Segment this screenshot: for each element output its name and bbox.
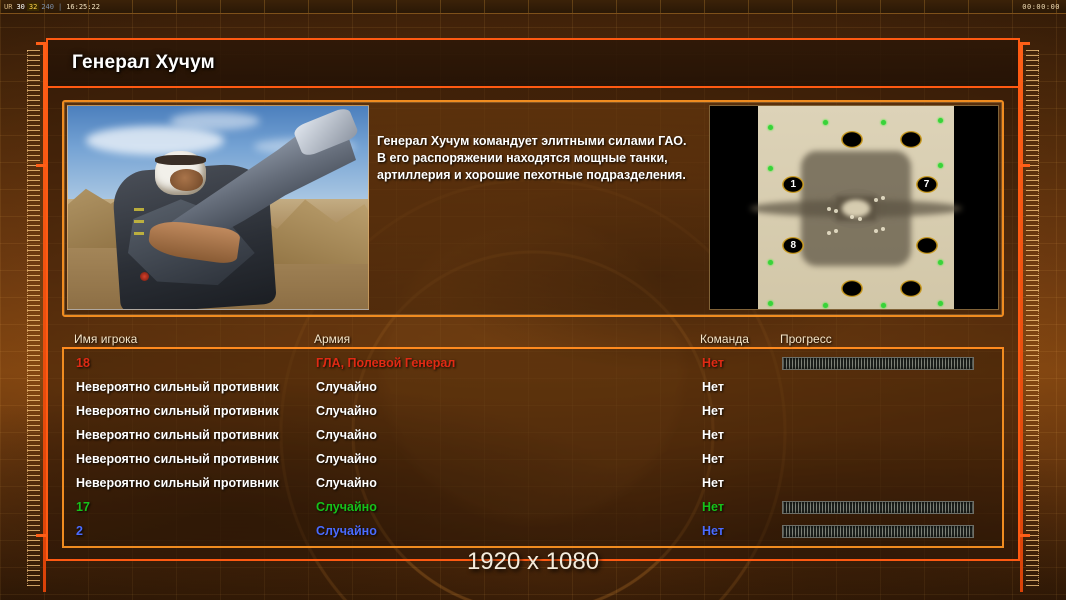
player-progress bbox=[782, 357, 982, 370]
player-name[interactable]: 2 bbox=[64, 524, 316, 538]
map-start-position[interactable] bbox=[841, 131, 863, 148]
map-supply-dot bbox=[768, 166, 773, 171]
status-bar-ticks bbox=[0, 0, 1066, 13]
portrait-soldier-headband bbox=[155, 155, 206, 165]
player-name[interactable]: 17 bbox=[64, 500, 316, 514]
right-ruler-decoration bbox=[1018, 14, 1066, 600]
map-prop bbox=[827, 231, 831, 235]
portrait-weapon-stripe bbox=[134, 220, 144, 223]
player-row[interactable]: Невероятно сильный противникСлучайноНет bbox=[64, 375, 1002, 399]
map-supply-dot bbox=[768, 125, 773, 130]
debug-status-bar: UR3032240|16:25:22 00:00:00 bbox=[0, 0, 1066, 14]
left-ruler-decoration bbox=[0, 14, 48, 600]
map-supply-dot bbox=[938, 301, 943, 306]
player-progress bbox=[782, 501, 982, 514]
player-team[interactable]: Нет bbox=[702, 500, 782, 514]
left-ruler-nub bbox=[36, 42, 46, 45]
player-army[interactable]: Случайно bbox=[316, 524, 702, 538]
player-name[interactable]: Невероятно сильный противник bbox=[64, 380, 316, 394]
portrait-weapon-stripe bbox=[134, 232, 144, 235]
player-row[interactable]: Невероятно сильный противникСлучайноНет bbox=[64, 423, 1002, 447]
player-team[interactable]: Нет bbox=[702, 356, 782, 370]
player-row[interactable]: Невероятно сильный противникСлучайноНет bbox=[64, 399, 1002, 423]
map-prop bbox=[827, 207, 831, 211]
player-army[interactable]: Случайно bbox=[316, 428, 702, 442]
map-preview-image: 178 bbox=[758, 106, 954, 310]
player-name[interactable]: Невероятно сильный противник bbox=[64, 428, 316, 442]
perf-label: UR bbox=[2, 3, 14, 11]
player-row[interactable]: Невероятно сильный противникСлучайноНет bbox=[64, 447, 1002, 471]
perf-extra: 240 bbox=[39, 3, 56, 11]
page-title: Генерал Хучум bbox=[72, 52, 215, 74]
player-row[interactable]: 17СлучайноНет bbox=[64, 495, 1002, 519]
portrait-weapon-stripe bbox=[134, 208, 144, 211]
map-supply-dot bbox=[768, 301, 773, 306]
player-team[interactable]: Нет bbox=[702, 428, 782, 442]
player-team[interactable]: Нет bbox=[702, 404, 782, 418]
general-description-wrapper: Генерал Хучум командует элитными силами … bbox=[369, 105, 709, 312]
map-start-position[interactable] bbox=[900, 131, 922, 148]
player-army[interactable]: Случайно bbox=[316, 404, 702, 418]
player-list: Имя игрока Армия Команда Прогресс 18ГЛА,… bbox=[62, 327, 1004, 548]
player-progress bbox=[782, 525, 982, 538]
left-ruler-ticks bbox=[27, 50, 40, 586]
player-list-body: 18ГЛА, Полевой ГенералНетНевероятно силь… bbox=[62, 349, 1004, 548]
player-row[interactable]: 18ГЛА, Полевой ГенералНет bbox=[64, 351, 1002, 375]
progress-bar bbox=[782, 525, 974, 538]
map-supply-dot bbox=[938, 118, 943, 123]
player-army[interactable]: Случайно bbox=[316, 500, 702, 514]
right-ruler-nub bbox=[1020, 164, 1030, 167]
performance-readout: UR3032240|16:25:22 bbox=[2, 0, 102, 14]
column-header-progress: Прогресс bbox=[780, 332, 980, 346]
player-army[interactable]: Случайно bbox=[316, 380, 702, 394]
column-header-army: Армия bbox=[314, 332, 700, 346]
game-screen: UR3032240|16:25:22 00:00:00 Генерал Хучу… bbox=[0, 0, 1066, 600]
general-info-panel: Генерал Хучум командует элитными силами … bbox=[62, 100, 1004, 317]
player-name[interactable]: 18 bbox=[64, 356, 316, 370]
map-supply-dot bbox=[823, 303, 828, 308]
map-start-position[interactable] bbox=[916, 237, 938, 254]
portrait-soldier-face bbox=[170, 169, 203, 191]
left-ruler-nub bbox=[36, 534, 46, 537]
map-start-position[interactable]: 1 bbox=[782, 176, 804, 193]
map-supply-dot bbox=[938, 163, 943, 168]
column-header-team: Команда bbox=[700, 332, 780, 346]
map-start-position[interactable] bbox=[841, 280, 863, 297]
player-row[interactable]: 2СлучайноНет bbox=[64, 519, 1002, 543]
player-team[interactable]: Нет bbox=[702, 452, 782, 466]
portrait-cloud bbox=[86, 126, 224, 154]
map-prop bbox=[850, 215, 854, 219]
column-header-name: Имя игрока bbox=[62, 332, 314, 346]
system-clock: 16:25:22 bbox=[64, 3, 102, 11]
player-row[interactable]: Невероятно сильный противникСлучайноНет bbox=[64, 471, 1002, 495]
game-clock: 00:00:00 bbox=[1022, 0, 1060, 14]
player-name[interactable]: Невероятно сильный противник bbox=[64, 476, 316, 490]
player-army[interactable]: ГЛА, Полевой Генерал bbox=[316, 356, 702, 370]
map-start-position[interactable]: 7 bbox=[916, 176, 938, 193]
right-ruler-nub bbox=[1020, 42, 1030, 45]
player-team[interactable]: Нет bbox=[702, 524, 782, 538]
map-prop bbox=[874, 198, 878, 202]
right-ruler-rail bbox=[1020, 44, 1023, 592]
map-prop bbox=[858, 217, 862, 221]
player-list-header: Имя игрока Армия Команда Прогресс bbox=[62, 327, 1004, 349]
map-preview[interactable]: 178 bbox=[709, 105, 999, 310]
map-prop bbox=[874, 229, 878, 233]
player-name[interactable]: Невероятно сильный противник bbox=[64, 452, 316, 466]
map-supply-dot bbox=[768, 260, 773, 265]
right-ruler-nub bbox=[1020, 534, 1030, 537]
player-name[interactable]: Невероятно сильный противник bbox=[64, 404, 316, 418]
right-ruler-ticks bbox=[1026, 50, 1039, 586]
perf-separator: | bbox=[56, 3, 64, 11]
skirmish-setup-dialog: Генерал Хучум bbox=[46, 38, 1020, 561]
map-supply-dot bbox=[938, 260, 943, 265]
player-team[interactable]: Нет bbox=[702, 476, 782, 490]
perf-fps: 30 bbox=[14, 3, 26, 11]
player-team[interactable]: Нет bbox=[702, 380, 782, 394]
map-start-position[interactable] bbox=[900, 280, 922, 297]
general-description: Генерал Хучум командует элитными силами … bbox=[377, 133, 697, 184]
general-portrait-image bbox=[67, 105, 369, 310]
map-terrain-island bbox=[836, 196, 875, 221]
perf-frame-ms: 32 bbox=[27, 3, 39, 11]
map-supply-dot bbox=[823, 120, 828, 125]
player-army[interactable]: Случайно bbox=[316, 452, 702, 466]
map-supply-dot bbox=[881, 120, 886, 125]
player-army[interactable]: Случайно bbox=[316, 476, 702, 490]
dialog-title-bar: Генерал Хучум bbox=[48, 40, 1018, 88]
progress-bar bbox=[782, 357, 974, 370]
resolution-label: 1920 x 1080 bbox=[0, 548, 1066, 576]
map-supply-dot bbox=[881, 303, 886, 308]
left-ruler-nub bbox=[36, 164, 46, 167]
progress-bar bbox=[782, 501, 974, 514]
